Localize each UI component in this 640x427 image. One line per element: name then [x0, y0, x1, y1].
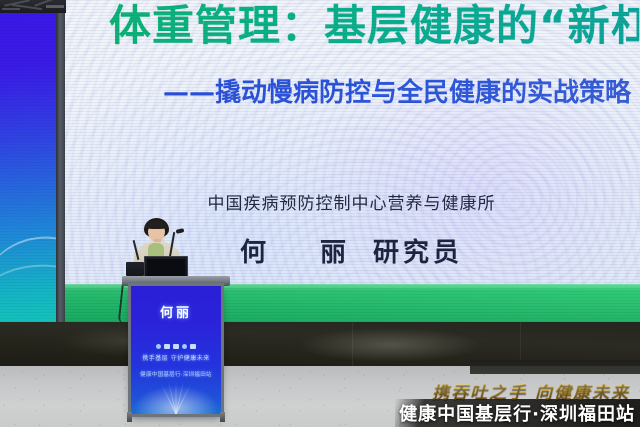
- slide-title: 体重管理：基层健康的“新杠杆”: [109, 2, 639, 49]
- screen-frame-divider: [56, 0, 65, 330]
- ceiling-truss-rigging: [0, 0, 66, 13]
- sponsor-logo-icon-4: [182, 344, 187, 349]
- lectern-sub-line: 健康中国基层行·深圳福田站: [131, 370, 221, 378]
- sponsor-logo-icon-1: [156, 344, 161, 349]
- sponsor-logo-icon-3: [173, 344, 179, 349]
- conference-photo: 体重管理：基层健康的“新杠杆” ——撬动慢病防控与全民健康的实战策略 中国疾病预…: [0, 0, 640, 427]
- side-led-panel: [0, 9, 56, 325]
- speaker-hair-fringe: [145, 220, 168, 229]
- watermark-caption: 健康中国基层行·深圳福田站: [399, 400, 635, 426]
- stage-skirt-highlight: [300, 328, 480, 362]
- sponsor-logo-icon-5: [190, 344, 196, 349]
- lectern-name-plate: 何丽: [131, 302, 221, 321]
- floor-edge-shadow: [470, 360, 640, 374]
- laptop-screen: [147, 259, 185, 277]
- slide-organization: 中国疾病预防控制中心营养与健康所: [63, 189, 640, 214]
- laptop: [144, 256, 188, 277]
- slide-speaker-name: 何 丽: [240, 238, 360, 268]
- lectern-legs: [125, 412, 227, 422]
- lectern-slogan: 携手基层 守护健康未来: [131, 354, 221, 363]
- slide-subtitle: ——撬动慢病防控与全民健康的实战策略: [163, 78, 640, 109]
- sponsor-logo-icon-2: [164, 344, 170, 349]
- slide-speaker-role: 研究员: [373, 238, 463, 268]
- lectern-sponsor-logos: [131, 344, 221, 349]
- lectern-desktop: [122, 276, 230, 286]
- desk-equipment-box: [126, 262, 144, 276]
- lectern: 何丽 携手基层 守护健康未来 健康中国基层行·深圳福田站: [131, 276, 221, 422]
- lectern-front-panel: 何丽 携手基层 守护健康未来 健康中国基层行·深圳福田站: [131, 286, 221, 414]
